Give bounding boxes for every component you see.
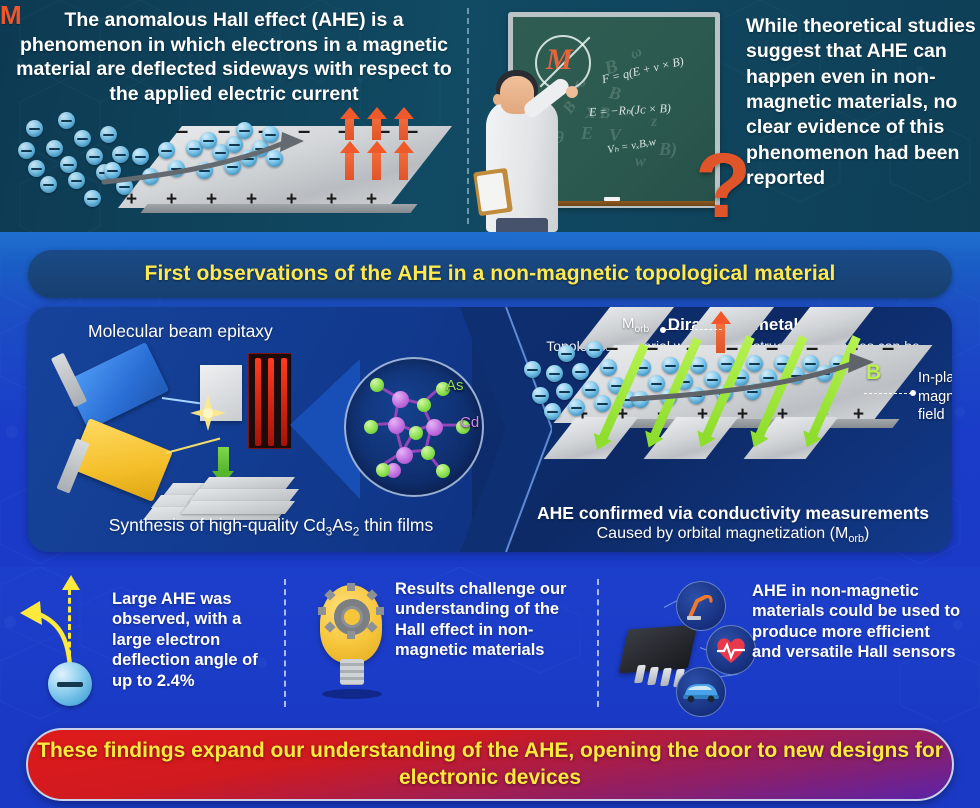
robot-arm-glyph (684, 589, 718, 623)
as-atom (436, 464, 450, 478)
dirac-sign-plus: + (737, 405, 748, 424)
electron (586, 341, 603, 358)
chalk-piece (604, 197, 620, 201)
morb-label-sub: orb (635, 324, 650, 335)
electron (600, 359, 617, 376)
electron (568, 399, 585, 416)
electron-icon-large (48, 662, 92, 706)
charge-sign-plus: + (246, 190, 257, 209)
electron (18, 142, 35, 159)
electron (58, 112, 75, 129)
car-glyph (682, 681, 720, 703)
middle-section: First observations of the AHE in a non-m… (0, 232, 980, 567)
electron (532, 387, 549, 404)
blackboard-ghost-mark: ω (628, 44, 645, 64)
ahe-cause-p0: Caused by orbital magnetization (M (597, 525, 849, 542)
synthesis-caption: Synthesis of high-quality Cd3As2 thin fi… (56, 515, 486, 539)
cd-label: Cd (460, 414, 479, 431)
as-atom (364, 420, 378, 434)
charge-sign-plus: + (166, 190, 177, 209)
ahe-cause-sub: orb (848, 533, 864, 545)
magnetization-arrow (399, 118, 408, 140)
as-atom (417, 398, 431, 412)
morb-dash-line (666, 329, 722, 330)
electron (556, 383, 573, 400)
electron (26, 120, 43, 137)
robot-arm-icon (676, 581, 726, 631)
clipboard-icon (473, 168, 513, 216)
inplane-dash-line (864, 393, 912, 394)
heater-bar (255, 358, 261, 446)
blackboard-equation: E = −Rₕ(Jᴄ × B) (589, 101, 672, 120)
gear-teeth (318, 583, 384, 639)
electron (60, 156, 77, 173)
dirac-sign-plus: + (777, 405, 788, 424)
morb-dot (660, 327, 666, 333)
as-label: As (446, 377, 464, 394)
scientist-hand (566, 86, 578, 98)
electron (558, 345, 575, 362)
ahe-confirmed-caption: AHE confirmed via conductivity measureme… (518, 503, 948, 524)
synthesis-caption-p0: Synthesis of high-quality Cd (109, 515, 326, 535)
car-icon (676, 667, 726, 717)
scientist-legs (496, 218, 548, 232)
electron (28, 160, 45, 177)
morb-label-base: M (622, 315, 635, 332)
ahe-cause-caption: Caused by orbital magnetization (Morb) (518, 525, 948, 545)
electron (594, 395, 611, 412)
dirac-current-arrow (628, 351, 888, 407)
charge-sign-plus: + (206, 190, 217, 209)
scientist-figure (478, 58, 588, 232)
dirac-sign-plus: + (697, 405, 708, 424)
effusion-cell-yellow (69, 418, 173, 502)
conclusion-banner: These findings expand our understanding … (26, 728, 954, 801)
dirac-sign-minus: – (606, 337, 618, 359)
top-vertical-divider (467, 8, 469, 224)
magnetization-arrow (372, 118, 381, 140)
conclusion-text: These findings expand our understanding … (28, 738, 952, 792)
charge-sign-plus: + (366, 190, 377, 209)
charge-sign-plus: + (326, 190, 337, 209)
cd-atom (388, 417, 405, 434)
cd-atom (426, 419, 443, 436)
bottom-text-1: Large AHE was observed, with a large ele… (112, 589, 282, 691)
blackboard-ghost-mark: B) (659, 139, 677, 160)
charge-sign-plus: + (286, 190, 297, 209)
infographic-root: The anomalous Hall effect (AHE) is a phe… (0, 0, 980, 808)
scientist-ear (493, 94, 502, 105)
banner-title: First observations of the AHE in a non-m… (145, 262, 836, 286)
magnetization-arrow (372, 152, 381, 180)
electron (46, 140, 63, 157)
deposition-arrow (218, 447, 229, 471)
beam-impact-flash (188, 395, 228, 431)
electron (68, 172, 85, 189)
section-banner: First observations of the AHE in a non-m… (28, 250, 952, 298)
electron (546, 365, 563, 382)
inplane-field-label: In-plane magnetic field (918, 369, 952, 425)
middle-content-card: Molecular beam epitaxy (28, 307, 952, 552)
crystal-structure-bubble: As Cd (344, 357, 484, 497)
synthesis-caption-p2: As (332, 515, 352, 535)
current-deflection-arrow (100, 130, 320, 190)
blackboard-ghost-mark: w (635, 153, 646, 171)
heater-element (248, 353, 292, 449)
heartbeat-icon (706, 625, 756, 675)
question-mark-icon: ? (695, 140, 751, 232)
ahe-cause-p2: ) (864, 525, 869, 542)
cd-atom (392, 391, 409, 408)
clipboard-paper (477, 173, 508, 212)
magnetization-arrow (345, 118, 354, 140)
inplane-dot (910, 390, 916, 396)
dirac-sign-plus: + (853, 405, 864, 424)
bottom-section: Large AHE was observed, with a large ele… (0, 567, 980, 722)
electron (84, 190, 101, 207)
bottom-divider-2 (597, 579, 599, 707)
dashed-vertical-arrow (68, 589, 71, 665)
electron (572, 363, 589, 380)
top-left-description: The anomalous Hall effect (AHE) is a phe… (8, 8, 460, 106)
electron (544, 403, 561, 420)
conclusion-section: These findings expand our understanding … (0, 722, 980, 808)
heater-bar (281, 358, 287, 446)
cd-atom (396, 447, 413, 464)
as-atom (376, 463, 390, 477)
orbital-magnetization-arrow (716, 323, 725, 353)
heartbeat-glyph (714, 635, 748, 665)
bottom-text-3: AHE in non-magnetic materials could be u… (752, 581, 962, 663)
as-atom (421, 446, 435, 460)
magnetization-arrow (399, 152, 408, 180)
electron (582, 381, 599, 398)
as-atom (409, 426, 423, 440)
b-field-label: B (866, 361, 881, 385)
as-atom (370, 378, 384, 392)
bulb-shadow (322, 689, 382, 699)
top-right-description: While theoretical studies suggest that A… (746, 14, 978, 191)
electron (74, 130, 91, 147)
magnetization-arrow (345, 152, 354, 180)
heater-bar (268, 358, 274, 446)
bottom-text-2: Results challenge our understanding of t… (395, 579, 575, 661)
effusion-cell-blue (65, 342, 170, 430)
bottom-divider-1 (284, 579, 286, 707)
film-layer (181, 501, 295, 514)
mbe-title: Molecular beam epitaxy (88, 321, 388, 342)
top-section: The anomalous Hall effect (AHE) is a phe… (0, 0, 980, 232)
electron (40, 176, 57, 193)
magnetization-label: M (0, 0, 22, 31)
bulb-base (340, 659, 364, 685)
morb-label: Morb (622, 315, 649, 335)
molecular-beam-yellow (166, 438, 221, 454)
electron (524, 361, 541, 378)
synthesis-caption-p4: thin films (359, 515, 433, 535)
